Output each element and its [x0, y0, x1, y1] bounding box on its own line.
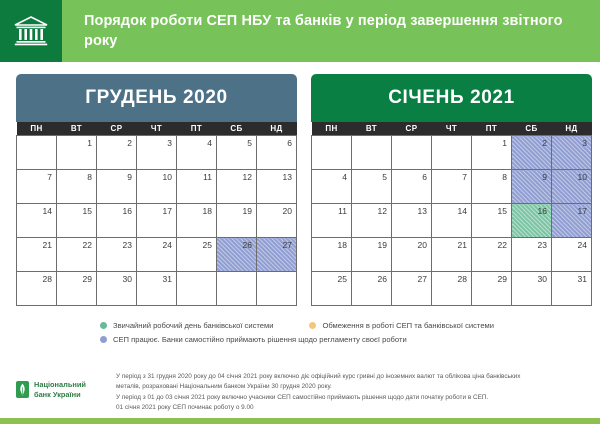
page-footer: Національний банк України У період з 31 … [0, 372, 600, 424]
day-cell-16[interactable]: 16 [97, 204, 137, 238]
nbu-logo-line2: банк України [34, 390, 86, 400]
nbu-logo-line1: Національний [34, 380, 86, 390]
day-cell-4[interactable]: 4 [312, 170, 352, 204]
bank-building-icon [0, 0, 62, 62]
day-cell-12[interactable]: 12 [352, 204, 392, 238]
day-cell-24[interactable]: 24 [552, 238, 592, 272]
page-title: Порядок роботи СЕП НБУ та банків у періо… [84, 11, 586, 51]
day-cell-empty [312, 136, 352, 170]
day-cell-2[interactable]: 2 [97, 136, 137, 170]
day-cell-2[interactable]: 2 [512, 136, 552, 170]
day-cell-1[interactable]: 1 [472, 136, 512, 170]
day-cell-15[interactable]: 15 [472, 204, 512, 238]
day-cell-empty [177, 272, 217, 306]
legend-label-orange: Обмеження в роботі СЕП та банківської си… [322, 322, 494, 330]
day-cell-3[interactable]: 3 [137, 136, 177, 170]
day-cell-11[interactable]: 11 [312, 204, 352, 238]
calendar-week-row: 21222324252627 [17, 238, 297, 272]
day-cell-22[interactable]: 22 [472, 238, 512, 272]
day-cell-14[interactable]: 14 [17, 204, 57, 238]
calendar-week-row: 18192021222324 [312, 238, 592, 272]
day-cell-14[interactable]: 14 [432, 204, 472, 238]
legend-label-green: Звичайний робочий день банківської систе… [113, 322, 273, 330]
day-cell-1[interactable]: 1 [57, 136, 97, 170]
weekday-header-вт: ВТ [57, 122, 97, 136]
day-cell-31[interactable]: 31 [137, 272, 177, 306]
day-cell-6[interactable]: 6 [392, 170, 432, 204]
page-header: Порядок роботи СЕП НБУ та банків у періо… [0, 0, 600, 62]
footnotes: У період з 31 грудня 2020 року до 04 січ… [116, 372, 594, 413]
day-cell-30[interactable]: 30 [97, 272, 137, 306]
day-cell-28[interactable]: 28 [17, 272, 57, 306]
legend-dot-orange-icon [309, 322, 316, 329]
day-cell-28[interactable]: 28 [432, 272, 472, 306]
legend-dot-purple-icon [100, 336, 107, 343]
day-cell-11[interactable]: 11 [177, 170, 217, 204]
day-cell-27[interactable]: 27 [392, 272, 432, 306]
weekday-header-сб: СБ [512, 122, 552, 136]
day-cell-31[interactable]: 31 [552, 272, 592, 306]
day-cell-29[interactable]: 29 [57, 272, 97, 306]
day-cell-empty [432, 136, 472, 170]
calendar-week-row: 45678910 [312, 170, 592, 204]
day-cell-5[interactable]: 5 [352, 170, 392, 204]
bottom-accent-bar [0, 418, 600, 424]
day-cell-3[interactable]: 3 [552, 136, 592, 170]
day-cell-4[interactable]: 4 [177, 136, 217, 170]
day-cell-6[interactable]: 6 [257, 136, 297, 170]
day-cell-empty [392, 136, 432, 170]
weekday-header-ср: СР [97, 122, 137, 136]
day-cell-7[interactable]: 7 [17, 170, 57, 204]
day-cell-9[interactable]: 9 [512, 170, 552, 204]
weekday-header-пн: ПН [17, 122, 57, 136]
day-cell-16[interactable]: 16 [512, 204, 552, 238]
weekday-header-ср: СР [392, 122, 432, 136]
slide-root: Порядок роботи СЕП НБУ та банків у періо… [0, 0, 600, 424]
day-cell-17[interactable]: 17 [137, 204, 177, 238]
footnote-line-3: У період з 01 до 03 січня 2021 року вклю… [116, 393, 594, 402]
day-cell-20[interactable]: 20 [257, 204, 297, 238]
calendar-week-row: 123 [312, 136, 592, 170]
day-cell-29[interactable]: 29 [472, 272, 512, 306]
calendars-container: ГРУДЕНЬ 2020 ПНВТСРЧТПТСБНД 123456789101… [0, 74, 600, 318]
day-cell-26[interactable]: 26 [217, 238, 257, 272]
day-cell-13[interactable]: 13 [392, 204, 432, 238]
day-cell-23[interactable]: 23 [97, 238, 137, 272]
day-cell-17[interactable]: 17 [552, 204, 592, 238]
day-cell-7[interactable]: 7 [432, 170, 472, 204]
calendar-week-row: 123456 [17, 136, 297, 170]
day-cell-18[interactable]: 18 [177, 204, 217, 238]
weekday-header-чт: ЧТ [137, 122, 177, 136]
legend-item-green: Звичайний робочий день банківської систе… [100, 322, 273, 330]
day-cell-8[interactable]: 8 [57, 170, 97, 204]
legend-row-1: Звичайний робочий день банківської систе… [0, 322, 600, 336]
day-cell-30[interactable]: 30 [512, 272, 552, 306]
day-cell-5[interactable]: 5 [217, 136, 257, 170]
legend-item-orange: Обмеження в роботі СЕП та банківської си… [309, 322, 494, 330]
calendar-january-grid: ПНВТСРЧТПТСБНД 1234567891011121314151617… [311, 122, 592, 306]
nbu-logo-text: Національний банк України [34, 380, 86, 400]
legend-label-purple: СЕП працює. Банки самостійно приймають р… [113, 336, 407, 344]
weekday-header-сб: СБ [217, 122, 257, 136]
day-cell-empty [352, 136, 392, 170]
day-cell-26[interactable]: 26 [352, 272, 392, 306]
day-cell-9[interactable]: 9 [97, 170, 137, 204]
day-cell-19[interactable]: 19 [352, 238, 392, 272]
calendar-week-row: 14151617181920 [17, 204, 297, 238]
weekday-header-чт: ЧТ [432, 122, 472, 136]
weekday-header-row: ПНВТСРЧТПТСБНД [17, 122, 297, 136]
title-bar: Порядок роботи СЕП НБУ та банків у періо… [62, 0, 600, 62]
legend-item-purple: СЕП працює. Банки самостійно приймають р… [100, 336, 407, 344]
legend-dot-green-icon [100, 322, 107, 329]
day-cell-empty [17, 136, 57, 170]
day-cell-27[interactable]: 27 [257, 238, 297, 272]
day-cell-25[interactable]: 25 [312, 272, 352, 306]
weekday-header-row: ПНВТСРЧТПТСБНД [312, 122, 592, 136]
weekday-header-пт: ПТ [472, 122, 512, 136]
calendar-week-row: 25262728293031 [312, 272, 592, 306]
nbu-trident-leaf-icon [16, 381, 29, 398]
day-cell-25[interactable]: 25 [177, 238, 217, 272]
calendar-december-body: 1234567891011121314151617181920212223242… [17, 136, 297, 306]
day-cell-21[interactable]: 21 [432, 238, 472, 272]
calendar-january-title: СІЧЕНЬ 2021 [311, 74, 592, 122]
day-cell-10[interactable]: 10 [137, 170, 177, 204]
calendar-december: ГРУДЕНЬ 2020 ПНВТСРЧТПТСБНД 123456789101… [16, 74, 297, 306]
day-cell-10[interactable]: 10 [552, 170, 592, 204]
calendar-december-title: ГРУДЕНЬ 2020 [16, 74, 297, 122]
calendar-week-row: 78910111213 [17, 170, 297, 204]
day-cell-8[interactable]: 8 [472, 170, 512, 204]
calendar-january-body: 1234567891011121314151617181920212223242… [312, 136, 592, 306]
day-cell-19[interactable]: 19 [217, 204, 257, 238]
weekday-header-вт: ВТ [352, 122, 392, 136]
day-cell-empty [217, 272, 257, 306]
nbu-logo: Національний банк України [16, 380, 86, 400]
legend: Звичайний робочий день банківської систе… [0, 322, 600, 350]
day-cell-18[interactable]: 18 [312, 238, 352, 272]
weekday-header-нд: НД [552, 122, 592, 136]
calendar-week-row: 11121314151617 [312, 204, 592, 238]
footnote-line-2: металів, розраховані Національним банком… [116, 382, 594, 391]
weekday-header-нд: НД [257, 122, 297, 136]
day-cell-empty [257, 272, 297, 306]
day-cell-24[interactable]: 24 [137, 238, 177, 272]
calendar-january: СІЧЕНЬ 2021 ПНВТСРЧТПТСБНД 1234567891011… [311, 74, 592, 306]
day-cell-13[interactable]: 13 [257, 170, 297, 204]
calendar-december-grid: ПНВТСРЧТПТСБНД 1234567891011121314151617… [16, 122, 297, 306]
day-cell-15[interactable]: 15 [57, 204, 97, 238]
day-cell-21[interactable]: 21 [17, 238, 57, 272]
weekday-header-пн: ПН [312, 122, 352, 136]
legend-row-2: СЕП працює. Банки самостійно приймають р… [0, 336, 600, 350]
day-cell-22[interactable]: 22 [57, 238, 97, 272]
footnote-line-1: У період з 31 грудня 2020 року до 04 січ… [116, 372, 594, 381]
footnote-line-4: 01 січня 2021 року СЕП починає роботу о … [116, 403, 594, 412]
day-cell-20[interactable]: 20 [392, 238, 432, 272]
weekday-header-пт: ПТ [177, 122, 217, 136]
calendar-week-row: 28293031 [17, 272, 297, 306]
day-cell-12[interactable]: 12 [217, 170, 257, 204]
day-cell-23[interactable]: 23 [512, 238, 552, 272]
